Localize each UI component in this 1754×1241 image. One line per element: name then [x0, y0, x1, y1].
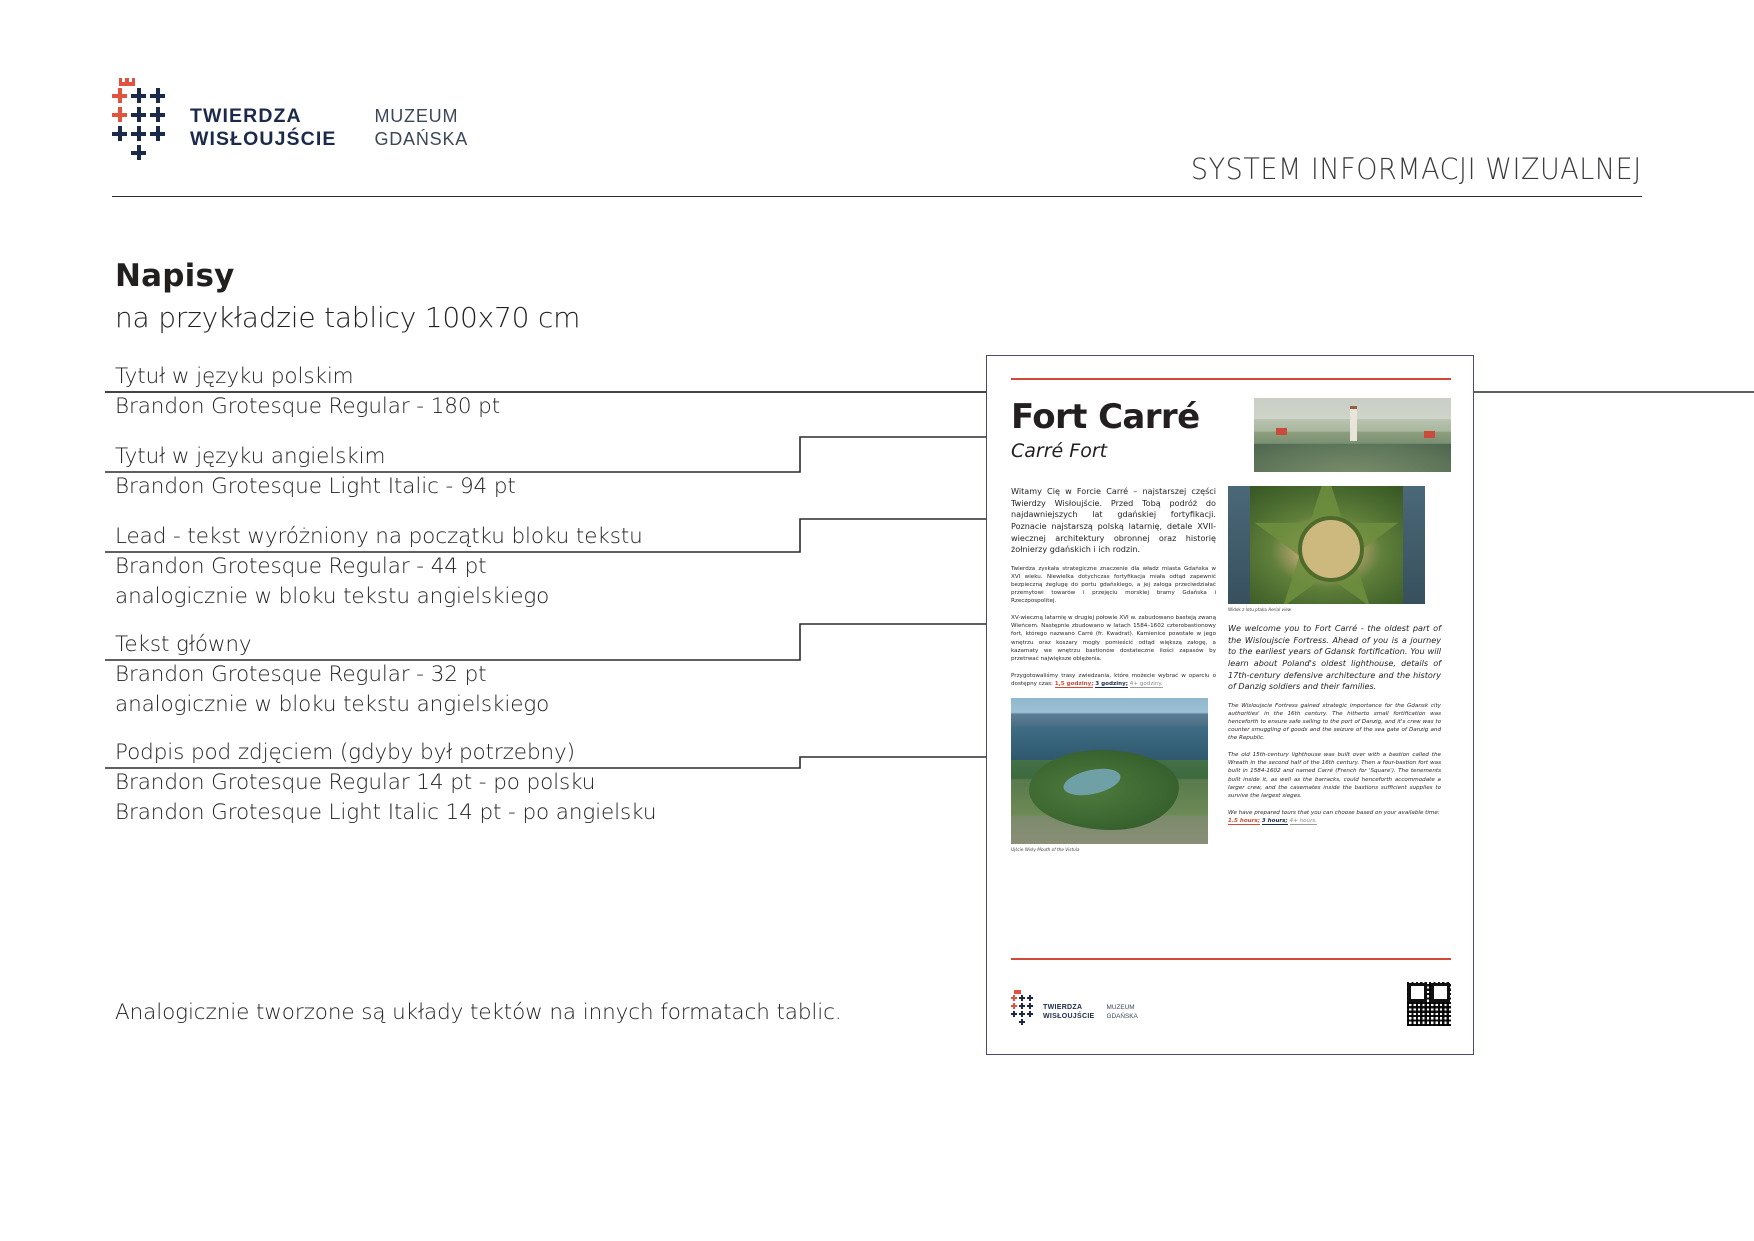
spec-column: Napisy na przykładzie tablicy 100x70 cm [115, 258, 855, 338]
board-columns: Witamy Cię w Forcie Carré – najstarszej … [1011, 486, 1451, 853]
tours-intro-pl: Przygotowaliśmy trasy zwiedzania, które … [1011, 672, 1216, 688]
brand-name-line2: WISŁOUJŚCIE [190, 128, 336, 151]
brand-subname-line2: GDAŃSKA [374, 128, 468, 151]
spec-label: Tytuł w języku polskim [115, 362, 835, 392]
footer-brand-name: TWIERDZA WISŁOUJŚCIE [1043, 1003, 1095, 1021]
spec-value: analogicznie w bloku tekstu angielskiego [115, 690, 835, 720]
board-header-row: Fort Carré Carré Fort [1011, 398, 1451, 472]
crown-icon [119, 77, 135, 86]
board-titles: Fort Carré Carré Fort [1011, 398, 1231, 464]
board-title: Fort Carré [1011, 398, 1231, 436]
brand-name-line1: TWIERDZA [190, 105, 336, 128]
photo-caption-aerial: Widok z lotu ptaka Aerial view [1228, 607, 1441, 613]
spec-value: Brandon Grotesque Regular 14 pt - po pol… [115, 768, 835, 798]
body-text-en-2: The old 15th-century lighthouse was buil… [1228, 751, 1441, 800]
board-top-rule [1011, 378, 1451, 380]
footer-brand-name-line2: WISŁOUJŚCIE [1043, 1012, 1095, 1021]
qr-code-icon [1407, 982, 1451, 1026]
body-text-pl-1: Twierdza zyskała strategiczne znaczenie … [1011, 565, 1216, 605]
panorama-aerial-image [1011, 698, 1208, 844]
photo-caption-pano: Ujście Wisły Mouth of the Vistula [1011, 847, 1216, 853]
spec-group-title-pl: Tytuł w języku polskim Brandon Grotesque… [115, 362, 835, 422]
crown-icon-small [1014, 990, 1021, 994]
fort-aerial-image [1228, 486, 1425, 604]
tour-option-2-en: 3 hours; [1262, 818, 1288, 825]
tour-option-3-en: 4+ hours. [1290, 818, 1318, 825]
board-bottom-rule [1011, 958, 1451, 960]
spec-label: Tytuł w języku angielskim [115, 442, 835, 472]
photo-caption-pano-en: Mouth of the Vistula [1037, 847, 1079, 852]
english-column: Widok z lotu ptaka Aerial view We welcom… [1228, 486, 1441, 853]
footer-brand-subname: MUZEUM GDAŃSKA [1107, 1003, 1138, 1021]
footer-brand-subname-line2: GDAŃSKA [1107, 1012, 1138, 1021]
brand-logo-text: TWIERDZA WISŁOUJŚCIE MUZEUM GDAŃSKA [190, 75, 468, 151]
footer-brand-logo: TWIERDZA WISŁOUJŚCIE MUZEUM GDAŃSKA [1011, 990, 1138, 1026]
section-title: Napisy [115, 258, 855, 294]
board-footer: TWIERDZA WISŁOUJŚCIE MUZEUM GDAŃSKA [1011, 982, 1451, 1026]
spec-value: Brandon Grotesque Regular - 44 pt [115, 552, 835, 582]
lead-text-en: We welcome you to Fort Carré - the oldes… [1228, 623, 1441, 693]
twierdza-crosses-logo-icon-small [1011, 990, 1037, 1026]
section-subtitle: na przykładzie tablicy 100x70 cm [115, 298, 855, 338]
spec-value: Brandon Grotesque Regular - 32 pt [115, 660, 835, 690]
tour-option-1-pl: 1,5 godziny; [1055, 681, 1094, 688]
brand-subname-line1: MUZEUM [374, 105, 468, 128]
spec-group-caption: Podpis pod zdjęciem (gdyby był potrzebny… [115, 738, 835, 828]
header-divider [112, 196, 1642, 197]
spec-label: Tekst główny [115, 630, 835, 660]
tours-intro-en-text: We have prepared tours that you can choo… [1228, 810, 1440, 816]
body-text-en-1: The Wisloujscie Fortress gained strategi… [1228, 702, 1441, 742]
tour-option-2-pl: 3 godziny; [1095, 681, 1128, 688]
spec-value: analogicznie w bloku tekstu angielskiego [115, 582, 835, 612]
board-subtitle: Carré Fort [1011, 438, 1231, 464]
board-preview: Fort Carré Carré Fort Witamy Cię w Forci… [986, 355, 1474, 1055]
photo-caption-aerial-en: Aerial view [1268, 607, 1291, 612]
page-header: TWIERDZA WISŁOUJŚCIE MUZEUM GDAŃSKA SYST… [0, 0, 1754, 215]
footer-brand-subname-line1: MUZEUM [1107, 1003, 1138, 1012]
polish-column: Witamy Cię w Forcie Carré – najstarszej … [1011, 486, 1216, 853]
spec-value: Brandon Grotesque Light Italic - 94 pt [115, 472, 835, 502]
tour-option-1-en: 1.5 hours; [1228, 818, 1260, 825]
photo-caption-pano-pl: Ujście Wisły [1011, 847, 1036, 852]
page-title: SYSTEM INFORMACJI WIZUALNEJ [1191, 152, 1642, 186]
spec-group-body: Tekst główny Brandon Grotesque Regular -… [115, 630, 835, 720]
photo-caption-aerial-pl: Widok z lotu ptaka [1228, 607, 1267, 612]
body-text-pl-2: XV-wieczną latarnię w drugiej połowie XV… [1011, 614, 1216, 663]
tour-option-3-pl: 4+ godziny. [1130, 681, 1163, 688]
brand-name: TWIERDZA WISŁOUJŚCIE [190, 105, 336, 151]
spec-value: Brandon Grotesque Light Italic 14 pt - p… [115, 798, 835, 828]
spec-label: Lead - tekst wyróżniony na początku blok… [115, 522, 835, 552]
spec-group-title-en: Tytuł w języku angielskim Brandon Grotes… [115, 442, 835, 502]
brand-subname: MUZEUM GDAŃSKA [374, 105, 468, 151]
spec-note: Analogicznie tworzone są układy tektów n… [115, 1000, 842, 1025]
historical-painting-image [1254, 398, 1451, 472]
spec-value: Brandon Grotesque Regular - 180 pt [115, 392, 835, 422]
lead-text-pl: Witamy Cię w Forcie Carré – najstarszej … [1011, 486, 1216, 556]
spec-label: Podpis pod zdjęciem (gdyby był potrzebny… [115, 738, 835, 768]
board-content: Fort Carré Carré Fort Witamy Cię w Forci… [1011, 378, 1451, 1034]
twierdza-crosses-logo-icon [112, 77, 172, 162]
spec-group-lead: Lead - tekst wyróżniony na początku blok… [115, 522, 835, 612]
footer-brand-name-line1: TWIERDZA [1043, 1003, 1095, 1012]
brand-logo: TWIERDZA WISŁOUJŚCIE MUZEUM GDAŃSKA [112, 75, 468, 162]
tours-intro-en: We have prepared tours that you can choo… [1228, 809, 1441, 825]
